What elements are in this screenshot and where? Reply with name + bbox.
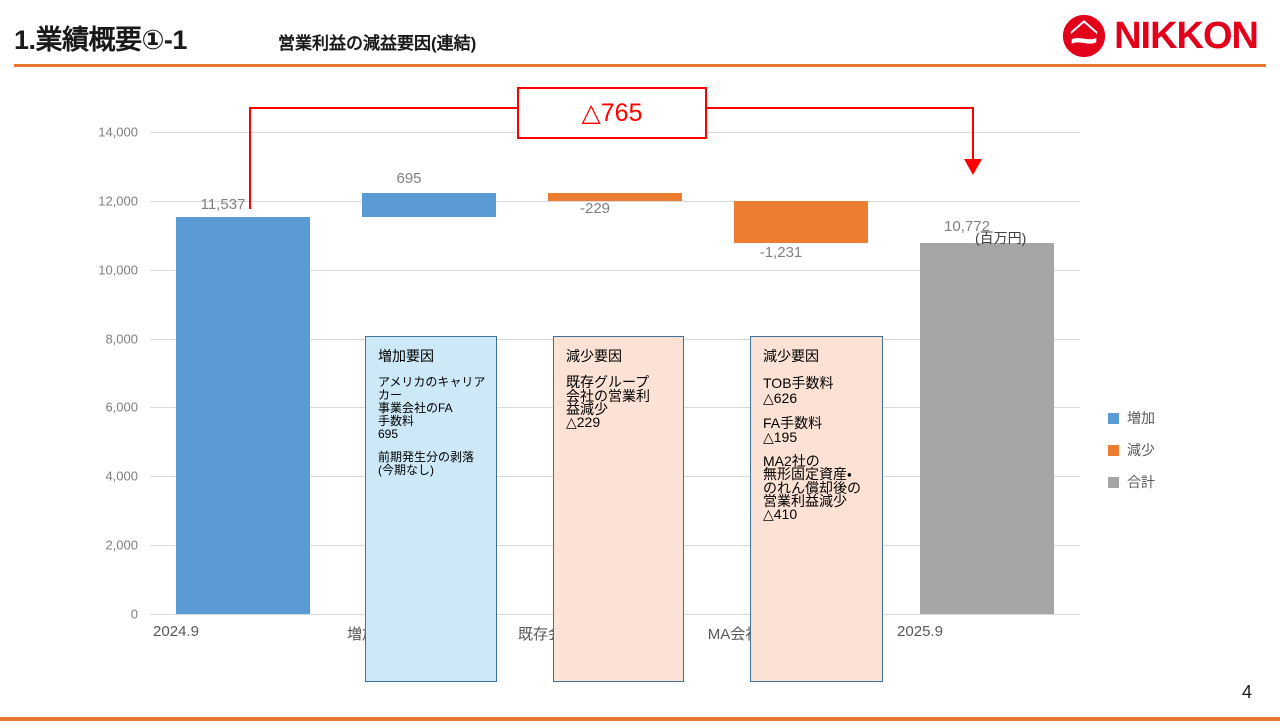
bar-2024-total bbox=[176, 217, 310, 614]
legend-swatch-total-icon bbox=[1108, 477, 1119, 488]
callout-line-right bbox=[705, 107, 974, 109]
bar-label-2025-total: 10,772 bbox=[874, 218, 1060, 235]
legend-label-decrease: 減少 bbox=[1127, 440, 1155, 460]
existing-company-note-title: 減少要因 bbox=[566, 349, 673, 364]
ytick-0: 0 bbox=[58, 607, 138, 622]
increase-note-body-1: アメリカのキャリアカー 事業会社のFA 手数料 695 bbox=[378, 376, 486, 441]
ytick-12000: 12,000 bbox=[58, 193, 138, 208]
ytick-14000: 14,000 bbox=[58, 125, 138, 140]
net-change-value: △765 bbox=[582, 98, 643, 128]
legend-label-increase: 増加 bbox=[1127, 408, 1155, 428]
increase-note: 増加要因 アメリカのキャリアカー 事業会社のFA 手数料 695 前期発生分の剥… bbox=[365, 336, 497, 682]
bar-label-ma-company: -1,231 bbox=[688, 244, 874, 261]
legend-item-decrease: 減少 bbox=[1108, 440, 1155, 460]
legend-swatch-increase-icon bbox=[1108, 413, 1119, 424]
callout-line-left bbox=[249, 107, 519, 109]
ytick-2000: 2,000 bbox=[58, 538, 138, 553]
chart-legend: 増加 減少 合計 bbox=[1108, 408, 1155, 492]
waterfall-chart: 14,000 12,000 10,000 8,000 6,000 4,000 2… bbox=[0, 70, 1280, 670]
bar-label-increase: 695 bbox=[316, 170, 502, 187]
logo-wordmark: NIKKON bbox=[1114, 17, 1258, 55]
page-number: 4 bbox=[1242, 682, 1252, 703]
ma-company-note-title: 減少要因 bbox=[763, 349, 872, 364]
xtick-2024: 2024.9 bbox=[83, 623, 269, 640]
header-divider bbox=[14, 64, 1266, 67]
callout-arrow-icon bbox=[964, 159, 982, 175]
ma-company-note-body-2: FA手数料 △195 bbox=[763, 416, 872, 445]
bar-label-2024-total: 11,537 bbox=[130, 196, 316, 213]
ytick-10000: 10,000 bbox=[58, 262, 138, 277]
ytick-6000: 6,000 bbox=[58, 400, 138, 415]
bar-increase bbox=[362, 193, 496, 217]
ma-company-note: 減少要因 TOB手数料 △626 FA手数料 △195 MA2社の 無形固定資産… bbox=[750, 336, 883, 682]
legend-item-total: 合計 bbox=[1108, 472, 1155, 492]
ytick-4000: 4,000 bbox=[58, 469, 138, 484]
existing-company-note: 減少要因 既存グループ 会社の営業利 益減少 △229 bbox=[553, 336, 684, 682]
bar-2025-total bbox=[920, 243, 1054, 614]
legend-swatch-decrease-icon bbox=[1108, 445, 1119, 456]
units-note: (百万円) bbox=[975, 228, 1026, 248]
nikkon-logo-icon bbox=[1062, 14, 1106, 58]
legend-label-total: 合計 bbox=[1127, 472, 1155, 492]
footer-divider bbox=[0, 717, 1280, 721]
page-title: 1.業績概要①-1 bbox=[14, 18, 187, 57]
ma-company-note-body-1: TOB手数料 △626 bbox=[763, 376, 872, 405]
ytick-8000: 8,000 bbox=[58, 331, 138, 346]
increase-note-body-2: 前期発生分の剥落 (今期なし) bbox=[378, 451, 486, 477]
callout-drop-line bbox=[972, 107, 974, 160]
bar-label-existing-company: -229 bbox=[502, 200, 688, 217]
existing-company-note-body-1: 既存グループ 会社の営業利 益減少 △229 bbox=[566, 376, 673, 429]
slide-header: 1.業績概要①-1 営業利益の減益要因(連結) NIKKON bbox=[0, 0, 1280, 70]
net-change-callout: △765 bbox=[517, 87, 707, 139]
nikkon-logo: NIKKON bbox=[1062, 14, 1258, 58]
legend-item-increase: 増加 bbox=[1108, 408, 1155, 428]
callout-riser-line bbox=[249, 107, 251, 209]
increase-note-title: 増加要因 bbox=[378, 349, 486, 364]
bar-ma-company bbox=[734, 201, 868, 243]
ma-company-note-body-3: MA2社の 無形固定資産・ のれん償却後の 営業利益減少 △410 bbox=[763, 455, 872, 521]
page-subtitle: 営業利益の減益要因(連結) bbox=[278, 29, 476, 54]
